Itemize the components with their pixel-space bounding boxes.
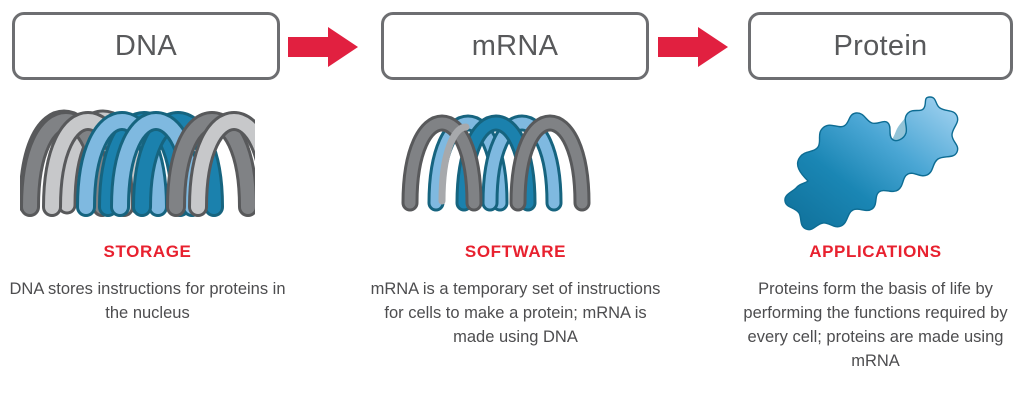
- caption-storage: STORAGE DNA stores instructions for prot…: [5, 243, 290, 326]
- protein-blob-icon: [780, 95, 965, 235]
- caption-software: SOFTWARE mRNA is a temporary set of inst…: [368, 243, 663, 350]
- caption-body: DNA stores instructions for proteins in …: [5, 278, 290, 326]
- stage-box-protein: Protein: [748, 12, 1013, 80]
- arrow-mrna-to-protein-icon: [658, 26, 728, 68]
- caption-body: mRNA is a temporary set of instructions …: [368, 278, 663, 350]
- caption-applications: APPLICATIONS Proteins form the basis of …: [728, 243, 1023, 374]
- caption-title: STORAGE: [5, 243, 290, 260]
- flow-row: DNA mRNA Protein: [0, 0, 1024, 95]
- stage-box-dna: DNA: [12, 12, 280, 80]
- caption-row: STORAGE DNA stores instructions for prot…: [0, 243, 1024, 400]
- caption-title: APPLICATIONS: [728, 243, 1023, 260]
- diagram-canvas: DNA mRNA Protein: [0, 0, 1024, 400]
- caption-title: SOFTWARE: [368, 243, 663, 260]
- stage-box-label: Protein: [834, 32, 928, 61]
- mrna-single-strand-icon: [398, 109, 598, 214]
- dna-double-helix-icon: [20, 105, 255, 220]
- illustration-row: [0, 95, 1024, 235]
- caption-body: Proteins form the basis of life by perfo…: [728, 278, 1023, 374]
- arrow-dna-to-mrna-icon: [288, 26, 358, 68]
- stage-box-label: DNA: [115, 32, 177, 61]
- stage-box-label: mRNA: [472, 32, 559, 61]
- stage-box-mrna: mRNA: [381, 12, 649, 80]
